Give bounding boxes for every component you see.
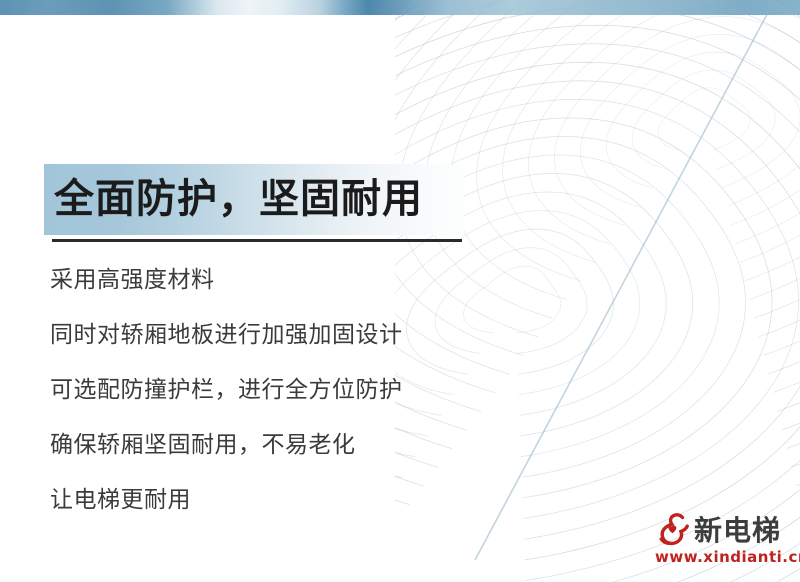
page-title: 全面防护，坚固耐用 [54, 168, 474, 230]
top-gradient-strip [0, 0, 800, 15]
logo-brand-name: 新电梯 [694, 514, 781, 548]
list-item: 让电梯更耐用 [50, 472, 520, 527]
list-item: 确保轿厢坚固耐用，不易老化 [50, 417, 520, 472]
list-item: 可选配防撞护栏，进行全方位防护 [50, 362, 520, 417]
list-item: 采用高强度材料 [50, 252, 520, 307]
watermark-logo: 新电梯 www.xindianti.cn [652, 512, 798, 570]
logo-row: 新电梯 [652, 512, 781, 550]
xindianti-ampersand-heart-icon [652, 512, 692, 550]
logo-url: www.xindianti.cn [655, 548, 800, 566]
title-divider [52, 239, 462, 242]
feature-list: 采用高强度材料 同时对轿厢地板进行加强加固设计 可选配防撞护栏，进行全方位防护 … [50, 252, 520, 527]
list-item: 同时对轿厢地板进行加强加固设计 [50, 307, 520, 362]
slide-canvas: 全面防护，坚固耐用 采用高强度材料 同时对轿厢地板进行加强加固设计 可选配防撞护… [0, 0, 800, 582]
